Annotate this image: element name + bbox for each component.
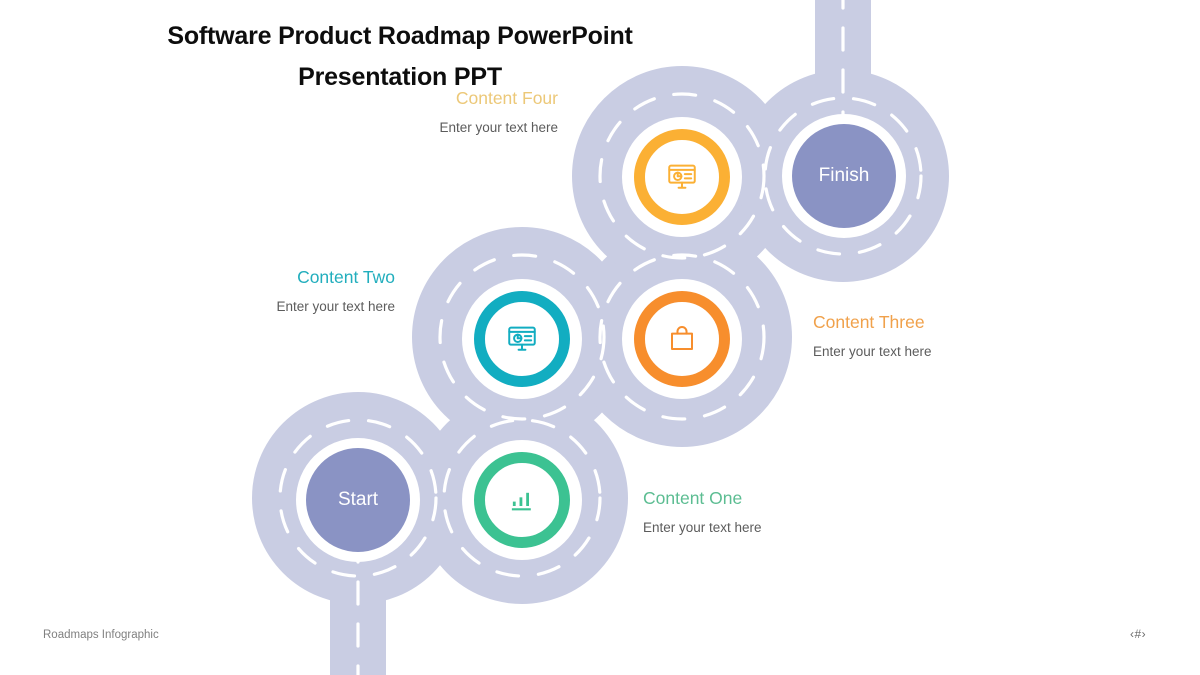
node-marker-content-two[interactable] [474,291,570,387]
label-sub-content-two: Enter your text here [130,299,395,315]
label-title-content-one: Content One [643,488,903,509]
label-sub-content-three: Enter your text here [813,344,1073,360]
node-marker-content-one[interactable] [474,452,570,548]
label-title-content-two: Content Two [130,267,395,288]
start-label: Start [338,489,378,511]
label-block-content-four: Content Four Enter your text here [300,88,558,136]
label-title-content-four: Content Four [300,88,558,109]
page-title-line-1: Software Product Roadmap PowerPoint [150,16,650,57]
presentation-chart-icon [665,160,699,194]
page-number-placeholder: ‹#› [1130,627,1146,641]
label-sub-content-four: Enter your text here [300,120,558,136]
node-marker-content-three[interactable] [634,291,730,387]
label-block-content-one: Content One Enter your text here [643,488,903,536]
label-sub-content-one: Enter your text here [643,520,903,536]
node-marker-content-four[interactable] [634,129,730,225]
label-block-content-two: Content Two Enter your text here [130,267,395,315]
footer-note: Roadmaps Infographic [43,629,159,641]
finish-label: Finish [819,165,870,187]
label-title-content-three: Content Three [813,312,1073,333]
shopping-bag-icon [666,323,698,355]
presentation-chart-icon [505,322,539,356]
page-title: Software Product Roadmap PowerPoint Pres… [150,16,650,99]
label-block-content-three: Content Three Enter your text here [813,312,1073,360]
bar-chart-icon [506,484,538,516]
node-marker-finish[interactable]: Finish [792,124,896,228]
node-marker-start[interactable]: Start [306,448,410,552]
roadmap-slide: .road-stroke { fill:none; stroke:#c9cde3… [0,0,1200,675]
